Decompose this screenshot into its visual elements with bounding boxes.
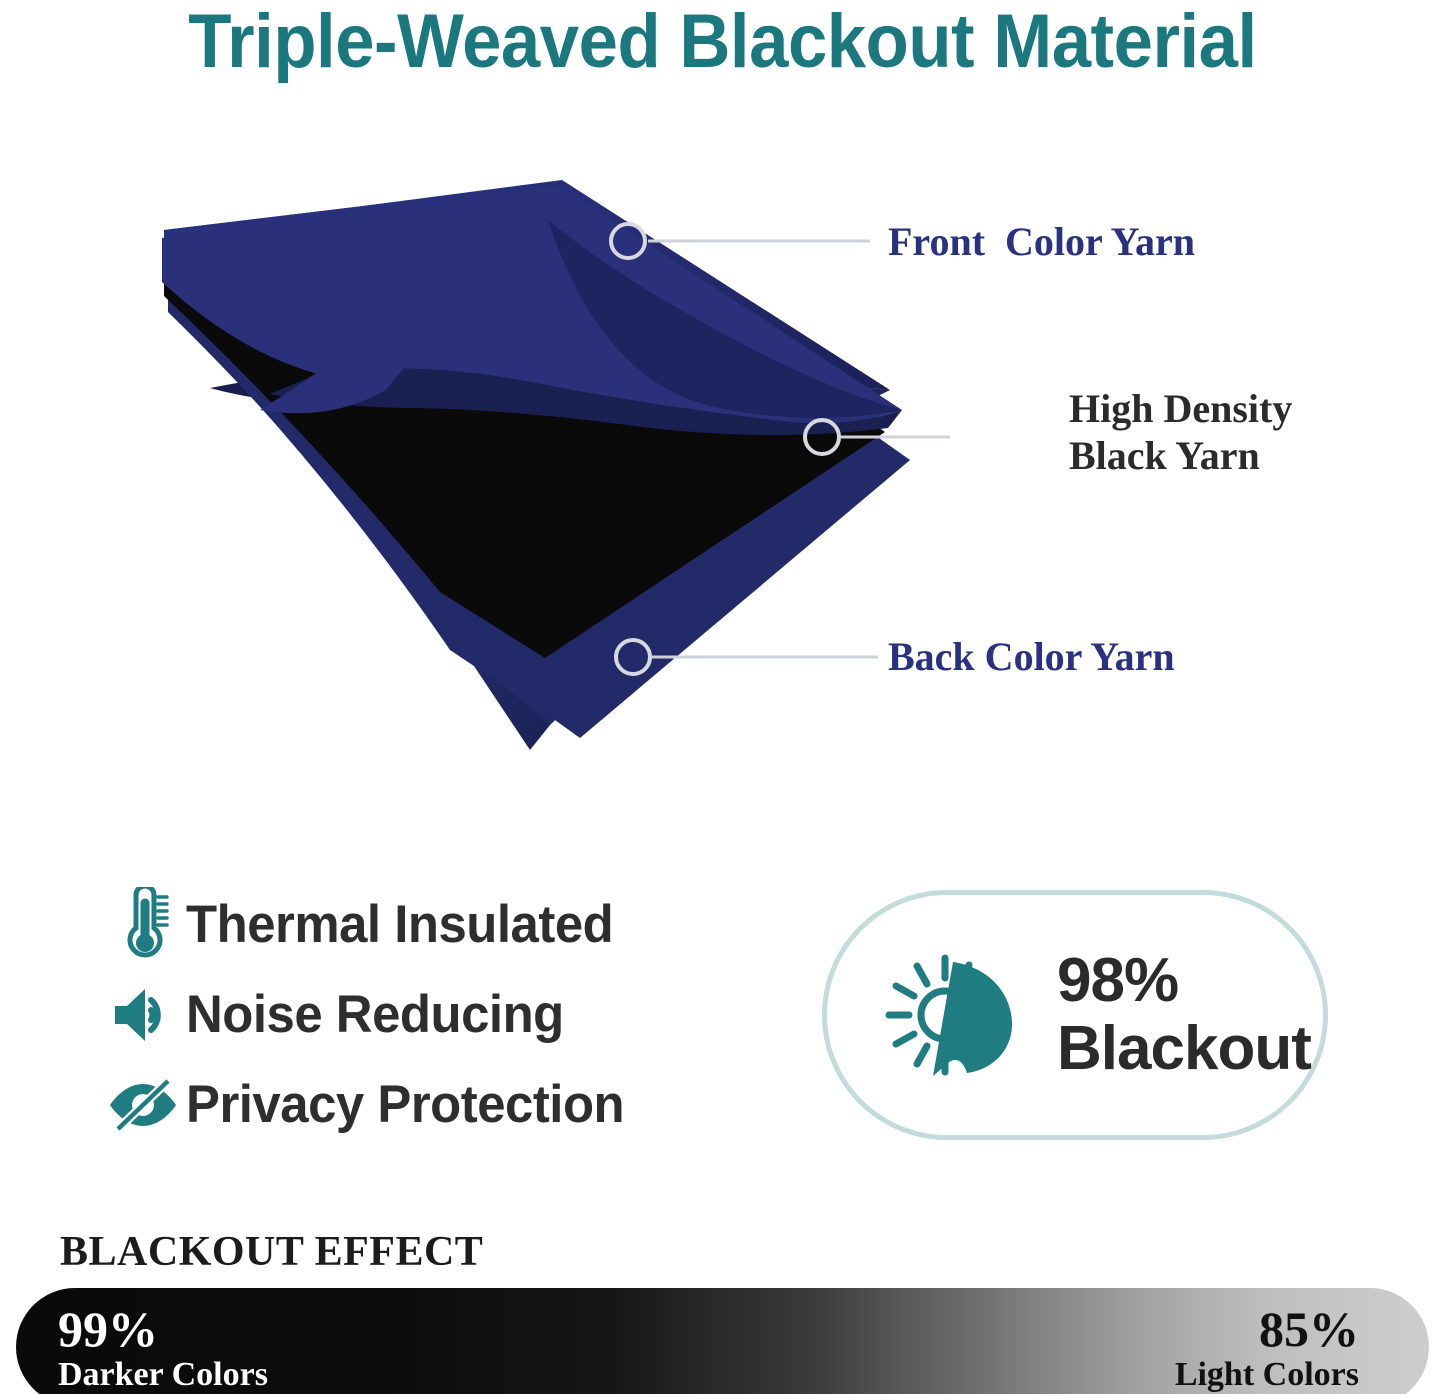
bar-left-caption: Darker Colors (58, 1356, 268, 1394)
feature-label-noise: Noise Reducing (186, 987, 564, 1043)
bar-left-percent: 99% (58, 1302, 268, 1356)
infographic-root: Triple-Weaved Blackout Material (0, 0, 1445, 1394)
layer-stack-refined (162, 186, 910, 738)
feature-item-thermal: Thermal Insulated (100, 880, 760, 970)
thermometer-icon (100, 887, 186, 963)
bar-right-percent: 85% (1175, 1302, 1359, 1356)
feature-list: Thermal Insulated Noise Reducing (100, 880, 760, 1150)
fabric-layers-diagram (150, 160, 950, 760)
blackout-word: Blackout (1057, 1018, 1311, 1080)
feature-item-privacy: Privacy Protection (100, 1060, 760, 1150)
sun-blocked-icon (827, 940, 1057, 1090)
bar-right-group: 85% Light Colors (1175, 1302, 1359, 1394)
blackout-badge-text: 98% Blackout (1057, 950, 1311, 1080)
bar-right-caption: Light Colors (1175, 1356, 1359, 1394)
bar-left-group: 99% Darker Colors (58, 1302, 268, 1394)
blackout-badge: 98% Blackout (822, 890, 1328, 1140)
eye-slash-icon (100, 1077, 186, 1133)
label-back-color-yarn: Back Color Yarn (888, 633, 1175, 680)
feature-item-noise: Noise Reducing (100, 970, 760, 1060)
feature-label-thermal: Thermal Insulated (186, 897, 613, 953)
blackout-effect-bar: 99% Darker Colors 85% Light Colors (16, 1288, 1429, 1394)
label-front-color-yarn: Front Color Yarn (888, 218, 1195, 265)
speaker-sound-icon (100, 984, 186, 1046)
blackout-percent: 98% (1057, 950, 1311, 1012)
page-title: Triple-Weaved Blackout Material (51, 0, 1395, 84)
feature-label-privacy: Privacy Protection (186, 1077, 624, 1133)
label-high-density-black-yarn: High Density Black Yarn (1069, 385, 1292, 479)
blackout-effect-heading: BLACKOUT EFFECT (60, 1228, 483, 1276)
